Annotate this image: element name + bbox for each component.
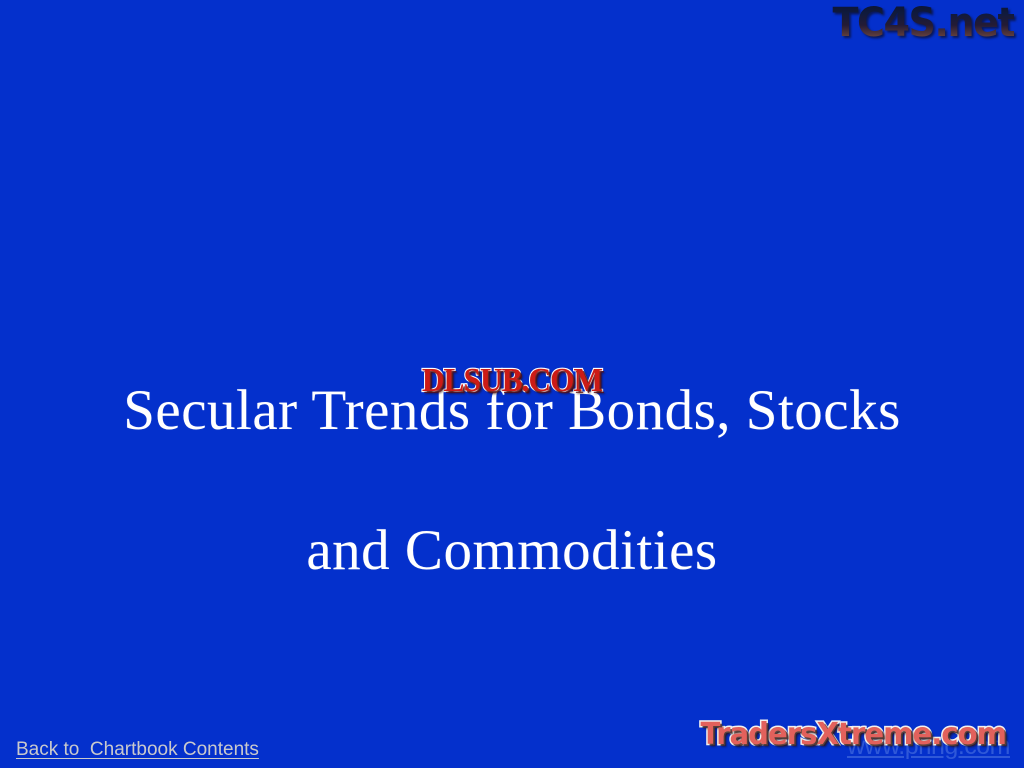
back-to-chartbook-contents-link[interactable]: Back to Chartbook Contents bbox=[16, 739, 259, 761]
slide-title: Secular Trends for Bonds, Stocks and Com… bbox=[0, 306, 1024, 656]
slide-title-line-2: and Commodities bbox=[0, 516, 1024, 586]
tradersxtreme-logo: www.pring.com TradersXtreme.com bbox=[666, 716, 1016, 762]
dlsub-watermark: DLSUB.COM bbox=[422, 364, 602, 398]
tc4s-watermark: TC4S.net bbox=[832, 1, 1014, 45]
presentation-slide: TC4S.net Secular Trends for Bonds, Stock… bbox=[0, 0, 1024, 768]
tradersxtreme-logo-text: TradersXtreme.com bbox=[700, 718, 1006, 752]
